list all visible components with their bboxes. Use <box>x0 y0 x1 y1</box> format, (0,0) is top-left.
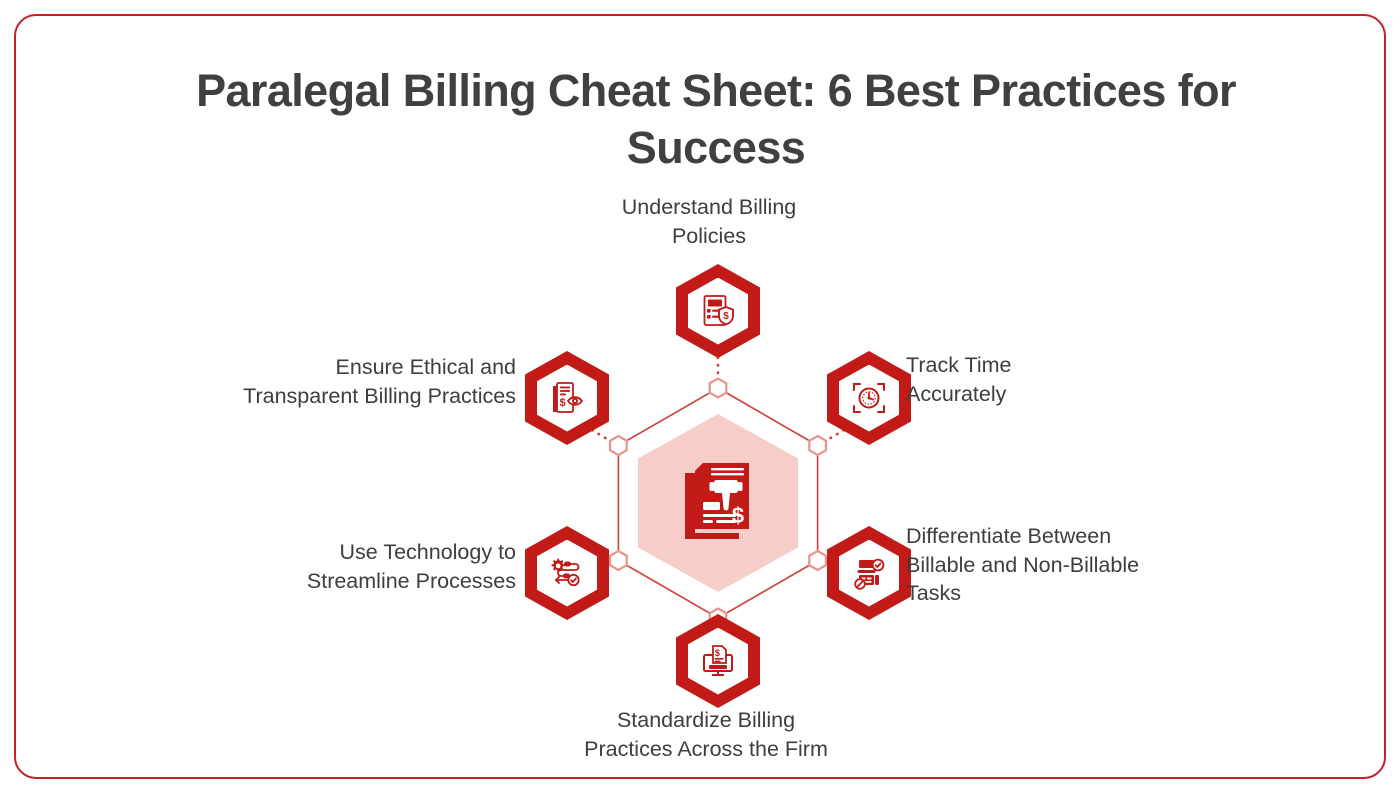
hexagon-diagram: $ <box>16 16 1386 779</box>
label-line: Use Technology to <box>176 538 516 567</box>
node-top <box>710 379 727 398</box>
hex-inner-bottom: $ <box>688 628 748 695</box>
center-hexagon: $ <box>638 414 798 592</box>
svg-text:$: $ <box>715 648 720 658</box>
label-line: Accurately <box>906 380 1206 409</box>
billable-nonbillable-checklist-icon <box>851 555 887 591</box>
label-line: Transparent Billing Practices <box>176 382 516 411</box>
hex-inner-top-right <box>839 365 899 432</box>
label-track-time-accurately: Track Time Accurately <box>906 351 1206 408</box>
billing-policy-shield-icon: $ <box>700 293 736 329</box>
hex-differentiate-billable-tasks[interactable] <box>827 526 911 620</box>
label-understand-billing-policies: Understand Billing Policies <box>564 193 854 250</box>
node-bottom-left <box>610 551 627 570</box>
label-line: Understand Billing <box>564 193 854 222</box>
label-line: Ensure Ethical and <box>176 353 516 382</box>
hex-inner-top-left: $ <box>537 365 597 432</box>
monitor-invoice-icon: $ <box>700 643 736 679</box>
label-line: Practices Across the Firm <box>546 735 866 764</box>
node-top-left <box>610 436 627 455</box>
svg-text:$: $ <box>559 397 565 409</box>
label-line: Track Time <box>906 351 1206 380</box>
node-top-right <box>809 436 826 455</box>
hex-inner-bottom-left <box>537 540 597 607</box>
label-line: Policies <box>564 222 854 251</box>
hex-inner-bottom-right <box>839 540 899 607</box>
hex-understand-billing-policies[interactable]: $ <box>676 264 760 358</box>
svg-text:$: $ <box>723 311 729 322</box>
label-use-technology-streamline: Use Technology to Streamline Processes <box>176 538 516 595</box>
hex-track-time-accurately[interactable] <box>827 351 911 445</box>
hex-standardize-billing-practices[interactable]: $ <box>676 614 760 708</box>
label-line: Tasks <box>906 579 1206 608</box>
legal-invoice-gavel-icon: $ <box>681 461 755 546</box>
invoice-dollar-eye-icon: $ <box>549 380 585 416</box>
label-differentiate-billable-tasks: Differentiate Between Billable and Non-B… <box>906 522 1206 608</box>
hex-inner-top: $ <box>688 278 748 345</box>
label-line: Billable and Non-Billable <box>906 551 1206 580</box>
label-standardize-billing-practices: Standardize Billing Practices Across the… <box>546 706 866 763</box>
label-ensure-ethical-transparent-billing: Ensure Ethical and Transparent Billing P… <box>176 353 516 410</box>
node-bottom-right <box>809 551 826 570</box>
clock-target-icon <box>851 380 887 416</box>
infographic-frame: Paralegal Billing Cheat Sheet: 6 Best Pr… <box>14 14 1386 779</box>
label-line: Standardize Billing <box>546 706 866 735</box>
svg-text:$: $ <box>732 503 744 528</box>
label-line: Differentiate Between <box>906 522 1206 551</box>
hex-ensure-ethical-transparent-billing[interactable]: $ <box>525 351 609 445</box>
label-line: Streamline Processes <box>176 567 516 596</box>
hex-use-technology-streamline[interactable] <box>525 526 609 620</box>
gear-workflow-check-icon <box>549 555 585 591</box>
